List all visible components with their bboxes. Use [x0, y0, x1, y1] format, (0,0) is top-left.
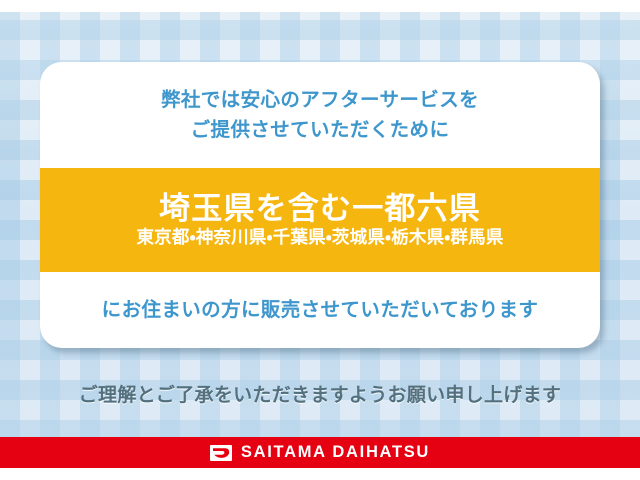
notice-card: 弊社では安心のアフターサービスを ご提供させていただくために 埼玉県を含む一都六…	[40, 62, 600, 348]
request-notice-text: ご理解とご了承をいただきますようお願い申し上げます	[0, 380, 640, 407]
top-white-margin	[0, 0, 640, 12]
bottom-white-margin	[0, 468, 640, 480]
highlight-title: 埼玉県を含む一都六県	[159, 192, 481, 227]
brand-footer-banner: SAITAMA DAIHATSU	[0, 437, 640, 468]
brand-name-text: SAITAMA DAIHATSU	[241, 443, 430, 462]
highlight-band: 埼玉県を含む一都六県 東京都・神奈川県・千葉県・茨城県・栃木県・群馬県	[40, 168, 600, 272]
intro-line-1: 弊社では安心のアフターサービスを	[161, 88, 479, 113]
daihatsu-d-emblem-icon	[210, 445, 232, 461]
intro-line-2: ご提供させていただくために	[191, 118, 450, 143]
notice-banner-screen: 弊社では安心のアフターサービスを ご提供させていただくために 埼玉県を含む一都六…	[0, 0, 640, 480]
closing-line-1: にお住まいの方に販売させていただいております	[102, 298, 539, 323]
highlight-prefecture-list: 東京都・神奈川県・千葉県・茨城県・栃木県・群馬県	[136, 228, 503, 248]
card-closing-block: にお住まいの方に販売させていただいております	[40, 272, 600, 348]
card-intro-block: 弊社では安心のアフターサービスを ご提供させていただくために	[40, 62, 600, 168]
